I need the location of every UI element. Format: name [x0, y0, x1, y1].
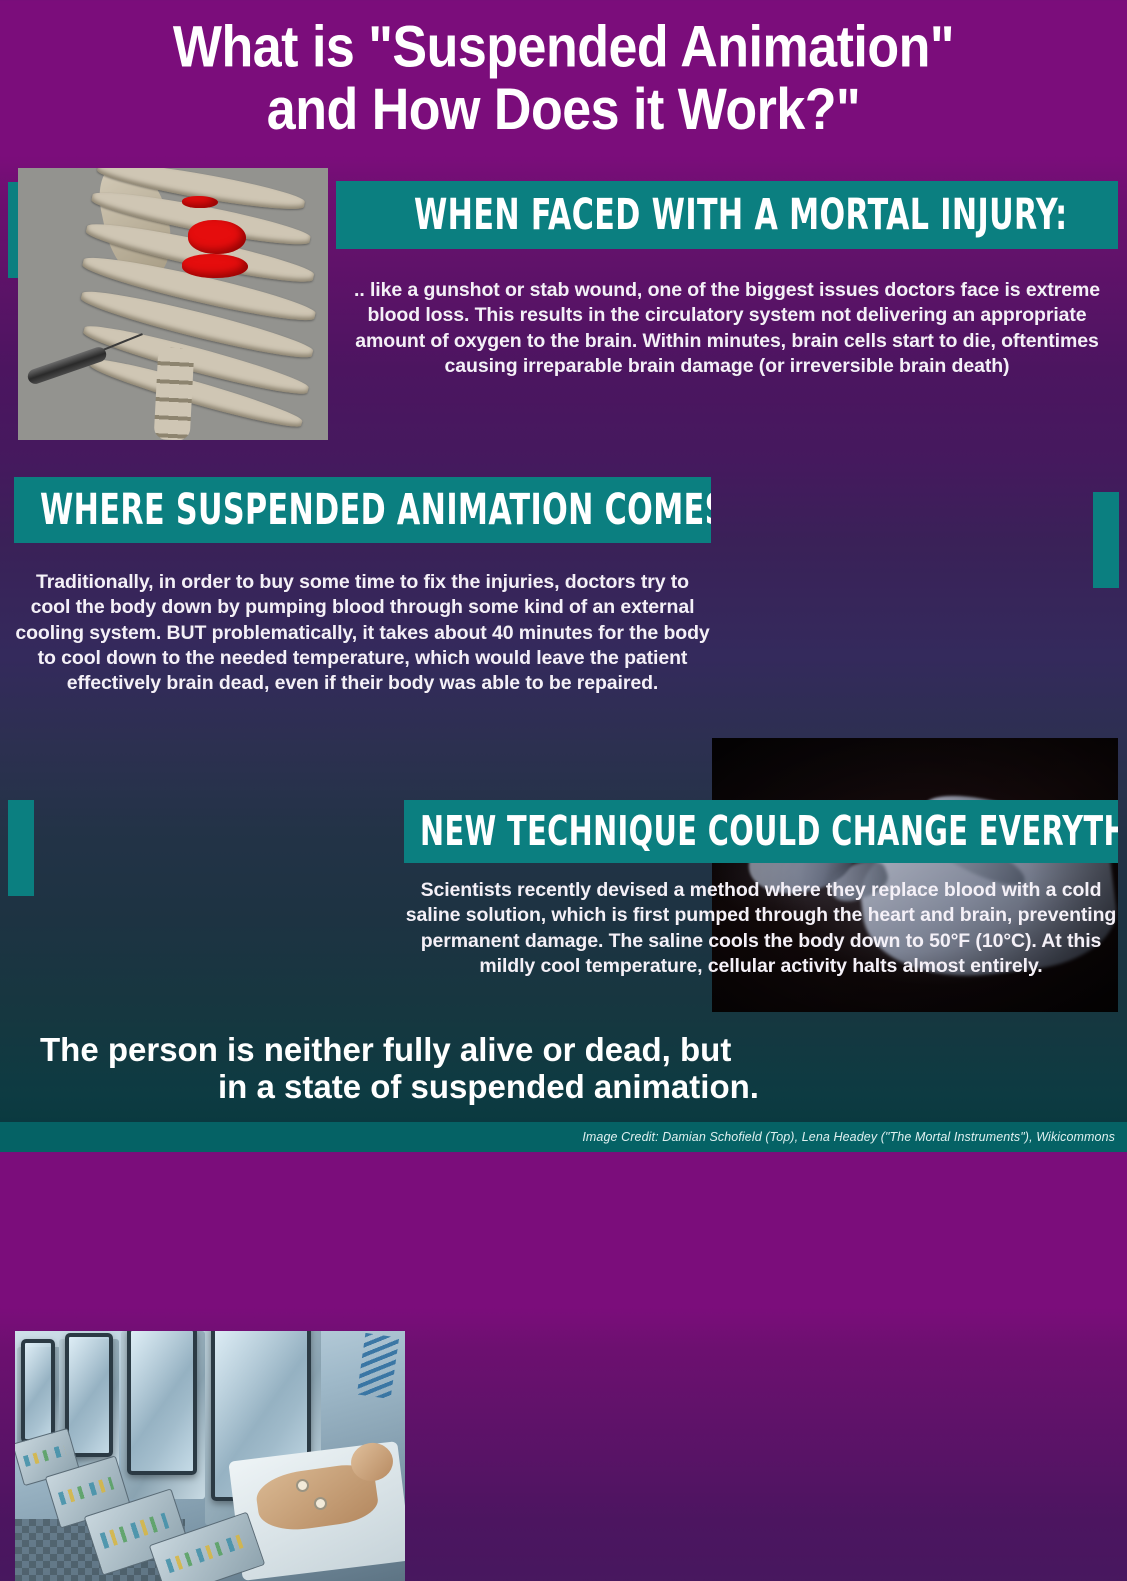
section-2-heading-bar: WHERE SUSPENDED ANIMATION COMES IN:	[14, 477, 711, 543]
section-3-heading: NEW TECHNIQUE COULD CHANGE EVERYTHING:	[420, 811, 1118, 852]
organ-segment-low	[182, 254, 248, 278]
conclusion-line-1: The person is neither fully alive or dea…	[0, 1032, 1127, 1069]
section-1-heading-bar: WHEN FACED WITH A MORTAL INJURY:	[336, 181, 1118, 249]
section-2-body-block: Traditionally, in order to buy some time…	[14, 570, 711, 697]
page-title-line-1: What is "Suspended Animation"	[0, 16, 1127, 79]
section-3-accent-strip	[8, 800, 34, 896]
conclusion-line-2: in a state of suspended animation.	[0, 1069, 1127, 1106]
cooling-coil	[357, 1333, 399, 1399]
footer-bar: Image Credit: Damian Schofield (Top), Le…	[0, 1122, 1127, 1152]
organ-segment-top	[182, 196, 218, 208]
section-3-image-cryo-pods	[15, 1331, 405, 1581]
section-1-image-ribcage	[18, 168, 328, 440]
page-title-line-2: and How Does it Work?"	[0, 79, 1127, 142]
section-3-heading-bar: NEW TECHNIQUE COULD CHANGE EVERYTHING:	[404, 800, 1118, 863]
section-1-body-block: .. like a gunshot or stab wound, one of …	[336, 278, 1118, 379]
conclusion-block: The person is neither fully alive or dea…	[0, 1032, 1127, 1106]
page-title: What is "Suspended Animation" and How Do…	[0, 16, 1127, 142]
section-1-heading: WHEN FACED WITH A MORTAL INJURY:	[414, 194, 1068, 237]
section-1-body-text: .. like a gunshot or stab wound, one of …	[336, 278, 1118, 379]
section-3-body-block: Scientists recently devised a method whe…	[404, 878, 1118, 979]
spine-shape	[154, 347, 195, 440]
pod-door-1	[21, 1339, 55, 1443]
section-2-accent-strip	[1093, 492, 1119, 588]
pod-door-2	[65, 1333, 113, 1457]
electrode-1	[296, 1479, 309, 1492]
organ-segment-mid	[188, 220, 246, 254]
image-credit: Image Credit: Damian Schofield (Top), Le…	[582, 1130, 1127, 1144]
section-3-body-text: Scientists recently devised a method whe…	[404, 878, 1118, 979]
electrode-2	[314, 1497, 327, 1510]
pod-door-3	[127, 1331, 197, 1475]
section-2-heading: WHERE SUSPENDED ANIMATION COMES IN:	[40, 489, 711, 532]
section-2-body-text: Traditionally, in order to buy some time…	[14, 570, 711, 697]
